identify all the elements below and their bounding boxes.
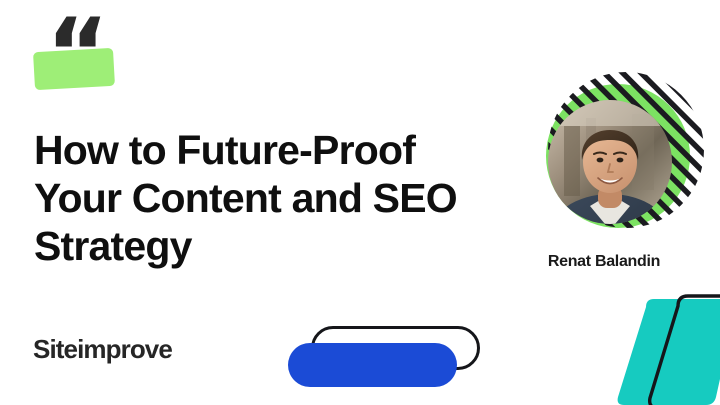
speaker-block: Renat Balandin (524, 70, 709, 275)
brand-wordmark: Siteimprove (33, 334, 172, 365)
slide-canvas: “ How to Future-Proof Your Content and S… (0, 0, 720, 405)
pill-solid-shape (288, 343, 457, 387)
avatar (524, 70, 709, 245)
quotation-mark-icon: “ (46, 6, 107, 102)
decorative-pills (288, 326, 486, 398)
teal-parallelogram-shape (618, 299, 720, 405)
page-title: How to Future-Proof Your Content and SEO… (34, 126, 504, 270)
quote-badge: “ (34, 32, 120, 92)
decorative-corner-shapes (612, 286, 720, 405)
avatar-photo (548, 100, 672, 245)
speaker-name: Renat Balandin (524, 253, 684, 271)
